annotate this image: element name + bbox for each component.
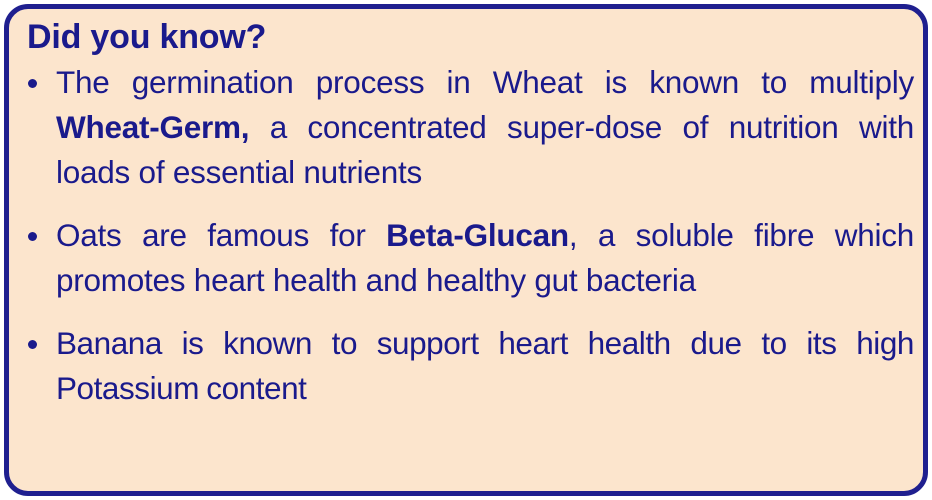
- list-item: The germination process in Wheat is know…: [20, 60, 914, 195]
- page-title: Did you know?: [27, 17, 914, 57]
- fact-text-3: Banana is known to support heart health …: [56, 325, 914, 406]
- did-you-know-card: Did you know? The germination process in…: [4, 4, 928, 496]
- fact-segment: The germination process in Wheat is know…: [56, 64, 914, 100]
- round-bullet-icon: [28, 79, 37, 88]
- fact-segment-bold: Beta-Glucan: [386, 217, 569, 253]
- fact-segment: Banana is known to support heart health …: [56, 325, 914, 406]
- round-bullet-icon: [28, 340, 37, 349]
- list-item: Banana is known to support heart health …: [20, 321, 914, 411]
- list-item: Oats are famous for Beta-Glucan, a solub…: [20, 213, 914, 303]
- fact-text-1: The germination process in Wheat is know…: [56, 64, 914, 190]
- fact-segment-bold: Wheat-Germ,: [56, 109, 249, 145]
- fact-segment: Oats are famous for: [56, 217, 386, 253]
- fact-text-2: Oats are famous for Beta-Glucan, a solub…: [56, 217, 914, 298]
- fact-list: The germination process in Wheat is know…: [20, 60, 914, 411]
- round-bullet-icon: [28, 232, 37, 241]
